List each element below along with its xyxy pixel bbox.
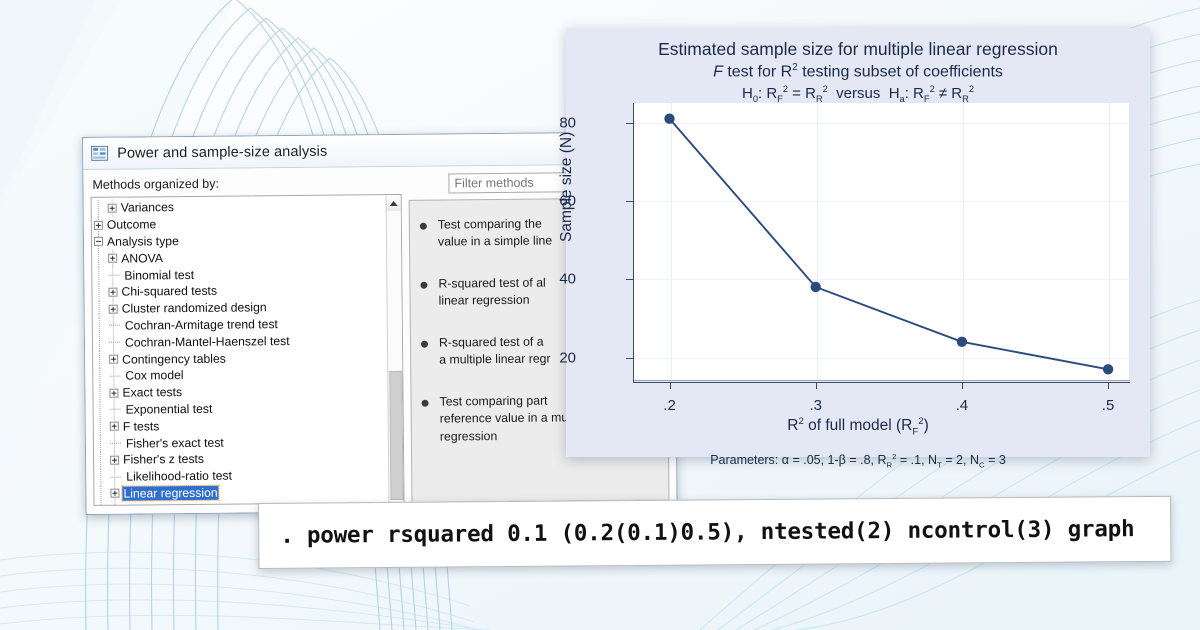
x-tick-label: .2 [663,397,676,414]
tree-item-label: Log-rank test [126,503,199,505]
y-tick-mark [626,279,633,280]
tree-guide-line [100,485,101,502]
command-bar[interactable]: . power rsquared 0.1 (0.2(0.1)0.5), ntes… [258,496,1171,569]
x-tick-mark [962,382,963,389]
tree-item-label: Likelihood-ratio test [125,469,233,484]
tree-guide-line [115,502,116,505]
methods-tree[interactable]: VariancesOutcomeAnalysis typeANOVABinomi… [91,194,405,506]
tree-guide-line [98,250,99,267]
method-description-line: Test comparing the [438,215,552,234]
method-description-line: value in a simple line [438,233,552,252]
tree-pane-label: Methods organized by: [90,173,401,197]
scroll-up-arrow-icon[interactable] [386,195,401,211]
tree-expand-icon[interactable] [110,489,119,498]
y-tick-mark [626,358,633,359]
data-point-marker [957,337,967,347]
tree-item-label: Contingency tables [121,351,227,366]
method-description-line: R-squared test of al [438,274,545,292]
tree-expand-icon[interactable] [94,220,103,229]
method-description: R-squared test of allinear regression [438,274,546,310]
line-series [633,103,1130,383]
tree-item-label: Fisher's exact test [125,435,225,450]
parameters-note: Parameters: α = .05, 1-β = .8, RR2 = .1,… [566,452,1150,470]
y-tick-label: 60 [536,192,576,209]
bullet-icon [421,341,428,348]
tree-guide-line [99,334,100,351]
tree-guide-line [100,469,101,486]
tree-guide-line [98,200,99,217]
tree-leaf-connector-icon [110,405,122,414]
tree-guide-line [99,317,100,334]
tree-guide-line [100,418,101,435]
y-tick-label: 40 [536,271,576,288]
tree-leaf-connector-icon [110,472,122,481]
method-description-line: linear regression [439,292,546,310]
table-grid-icon [91,146,108,161]
x-tick-label: .5 [1102,397,1115,414]
tree-item-label: Exponential test [125,402,214,417]
series-line [670,119,1109,370]
tree-leaf-connector-icon [108,271,120,280]
tree-guide-line [99,351,100,368]
y-tick-label: 20 [536,349,576,366]
tree-guide-line [100,401,101,418]
x-tick-label: .4 [956,397,969,414]
command-text: . power rsquared 0.1 (0.2(0.1)0.5), ntes… [280,516,1134,549]
tree-item-label: ANOVA [120,251,164,265]
tree-leaf-connector-icon [110,439,122,448]
tree-expand-icon[interactable] [109,355,118,364]
tree-expand-icon[interactable] [110,456,119,465]
tree-expand-icon[interactable] [110,422,119,431]
bullet-icon [422,399,429,406]
tree-item-label: Variances [120,201,175,216]
tree-expand-icon[interactable] [108,204,117,213]
tree-item-label: Cluster randomized design [121,300,268,315]
tree-item-label: Cochran-Mantel-Haenszel test [124,334,291,350]
x-axis-label: R2 of full model (RF2) [566,416,1150,437]
tree-item-label: Fisher's z tests [122,452,205,467]
tree-item-label: Cochran-Armitage trend test [124,317,279,332]
tree-item-label: Binomial test [123,267,195,282]
tree-item-label: Outcome [106,217,158,231]
tree-guide-line [98,284,99,301]
y-tick-mark [626,201,633,202]
method-description: R-squared test of aa multiple linear reg… [439,333,551,369]
tree-guide-line [100,452,101,469]
bullet-icon [420,282,427,289]
dialog-title: Power and sample-size analysis [117,143,327,161]
data-point-marker [1103,364,1113,374]
stata-graph-window[interactable]: Estimated sample size for multiple linea… [566,28,1150,457]
scrollbar-thumb[interactable] [389,371,403,500]
tree-expand-icon[interactable] [108,288,117,297]
tree-item-label: Cox model [124,368,184,383]
methods-tree-list[interactable]: VariancesOutcomeAnalysis typeANOVABinomi… [92,195,389,505]
x-tick-mark [1108,382,1109,389]
method-description-line: a multiple linear regr [439,351,551,370]
y-tick-label: 80 [536,114,576,131]
tree-guide-line [98,267,99,284]
tree-guide-line [99,368,100,385]
tree-expand-icon[interactable] [108,254,117,263]
data-point-marker [664,114,674,124]
plot-wrapper: Sample size (N) R2 of full model (RF2) P… [566,28,1150,457]
tree-leaf-connector-icon [109,371,121,380]
tree-guide-line [100,435,101,452]
method-description: Test comparing thevalue in a simple line [438,215,552,251]
methods-tree-pane: Methods organized by: VariancesOutcomeAn… [90,173,404,506]
tree-collapse-icon[interactable] [94,237,103,246]
tree-item-label: F tests [122,419,161,433]
x-tick-mark [670,382,671,389]
x-tick-mark [816,382,817,389]
tree-item-label: Chi-squared tests [120,284,218,299]
tree-item-label: Exact tests [121,385,183,400]
tree-scrollbar[interactable] [386,195,404,502]
tree-expand-icon[interactable] [109,304,118,313]
tree-guide-line [99,385,100,402]
tree-expand-icon[interactable] [109,388,118,397]
y-tick-mark [626,123,633,124]
tree-leaf-connector-icon [109,321,121,330]
tree-guide-line [99,301,100,318]
bullet-icon [420,223,427,230]
tree-leaf-connector-icon [109,338,121,347]
tree-item-label: Analysis type [106,234,180,249]
tree-guide-line [101,502,102,505]
data-point-marker [811,282,821,292]
tree-item-label: Linear regression [122,486,218,501]
x-tick-label: .3 [809,397,822,414]
y-axis-label: Sample size (N) [558,132,576,242]
scrollbar-track[interactable] [386,211,404,502]
method-description-line: R-squared test of a [439,333,551,352]
